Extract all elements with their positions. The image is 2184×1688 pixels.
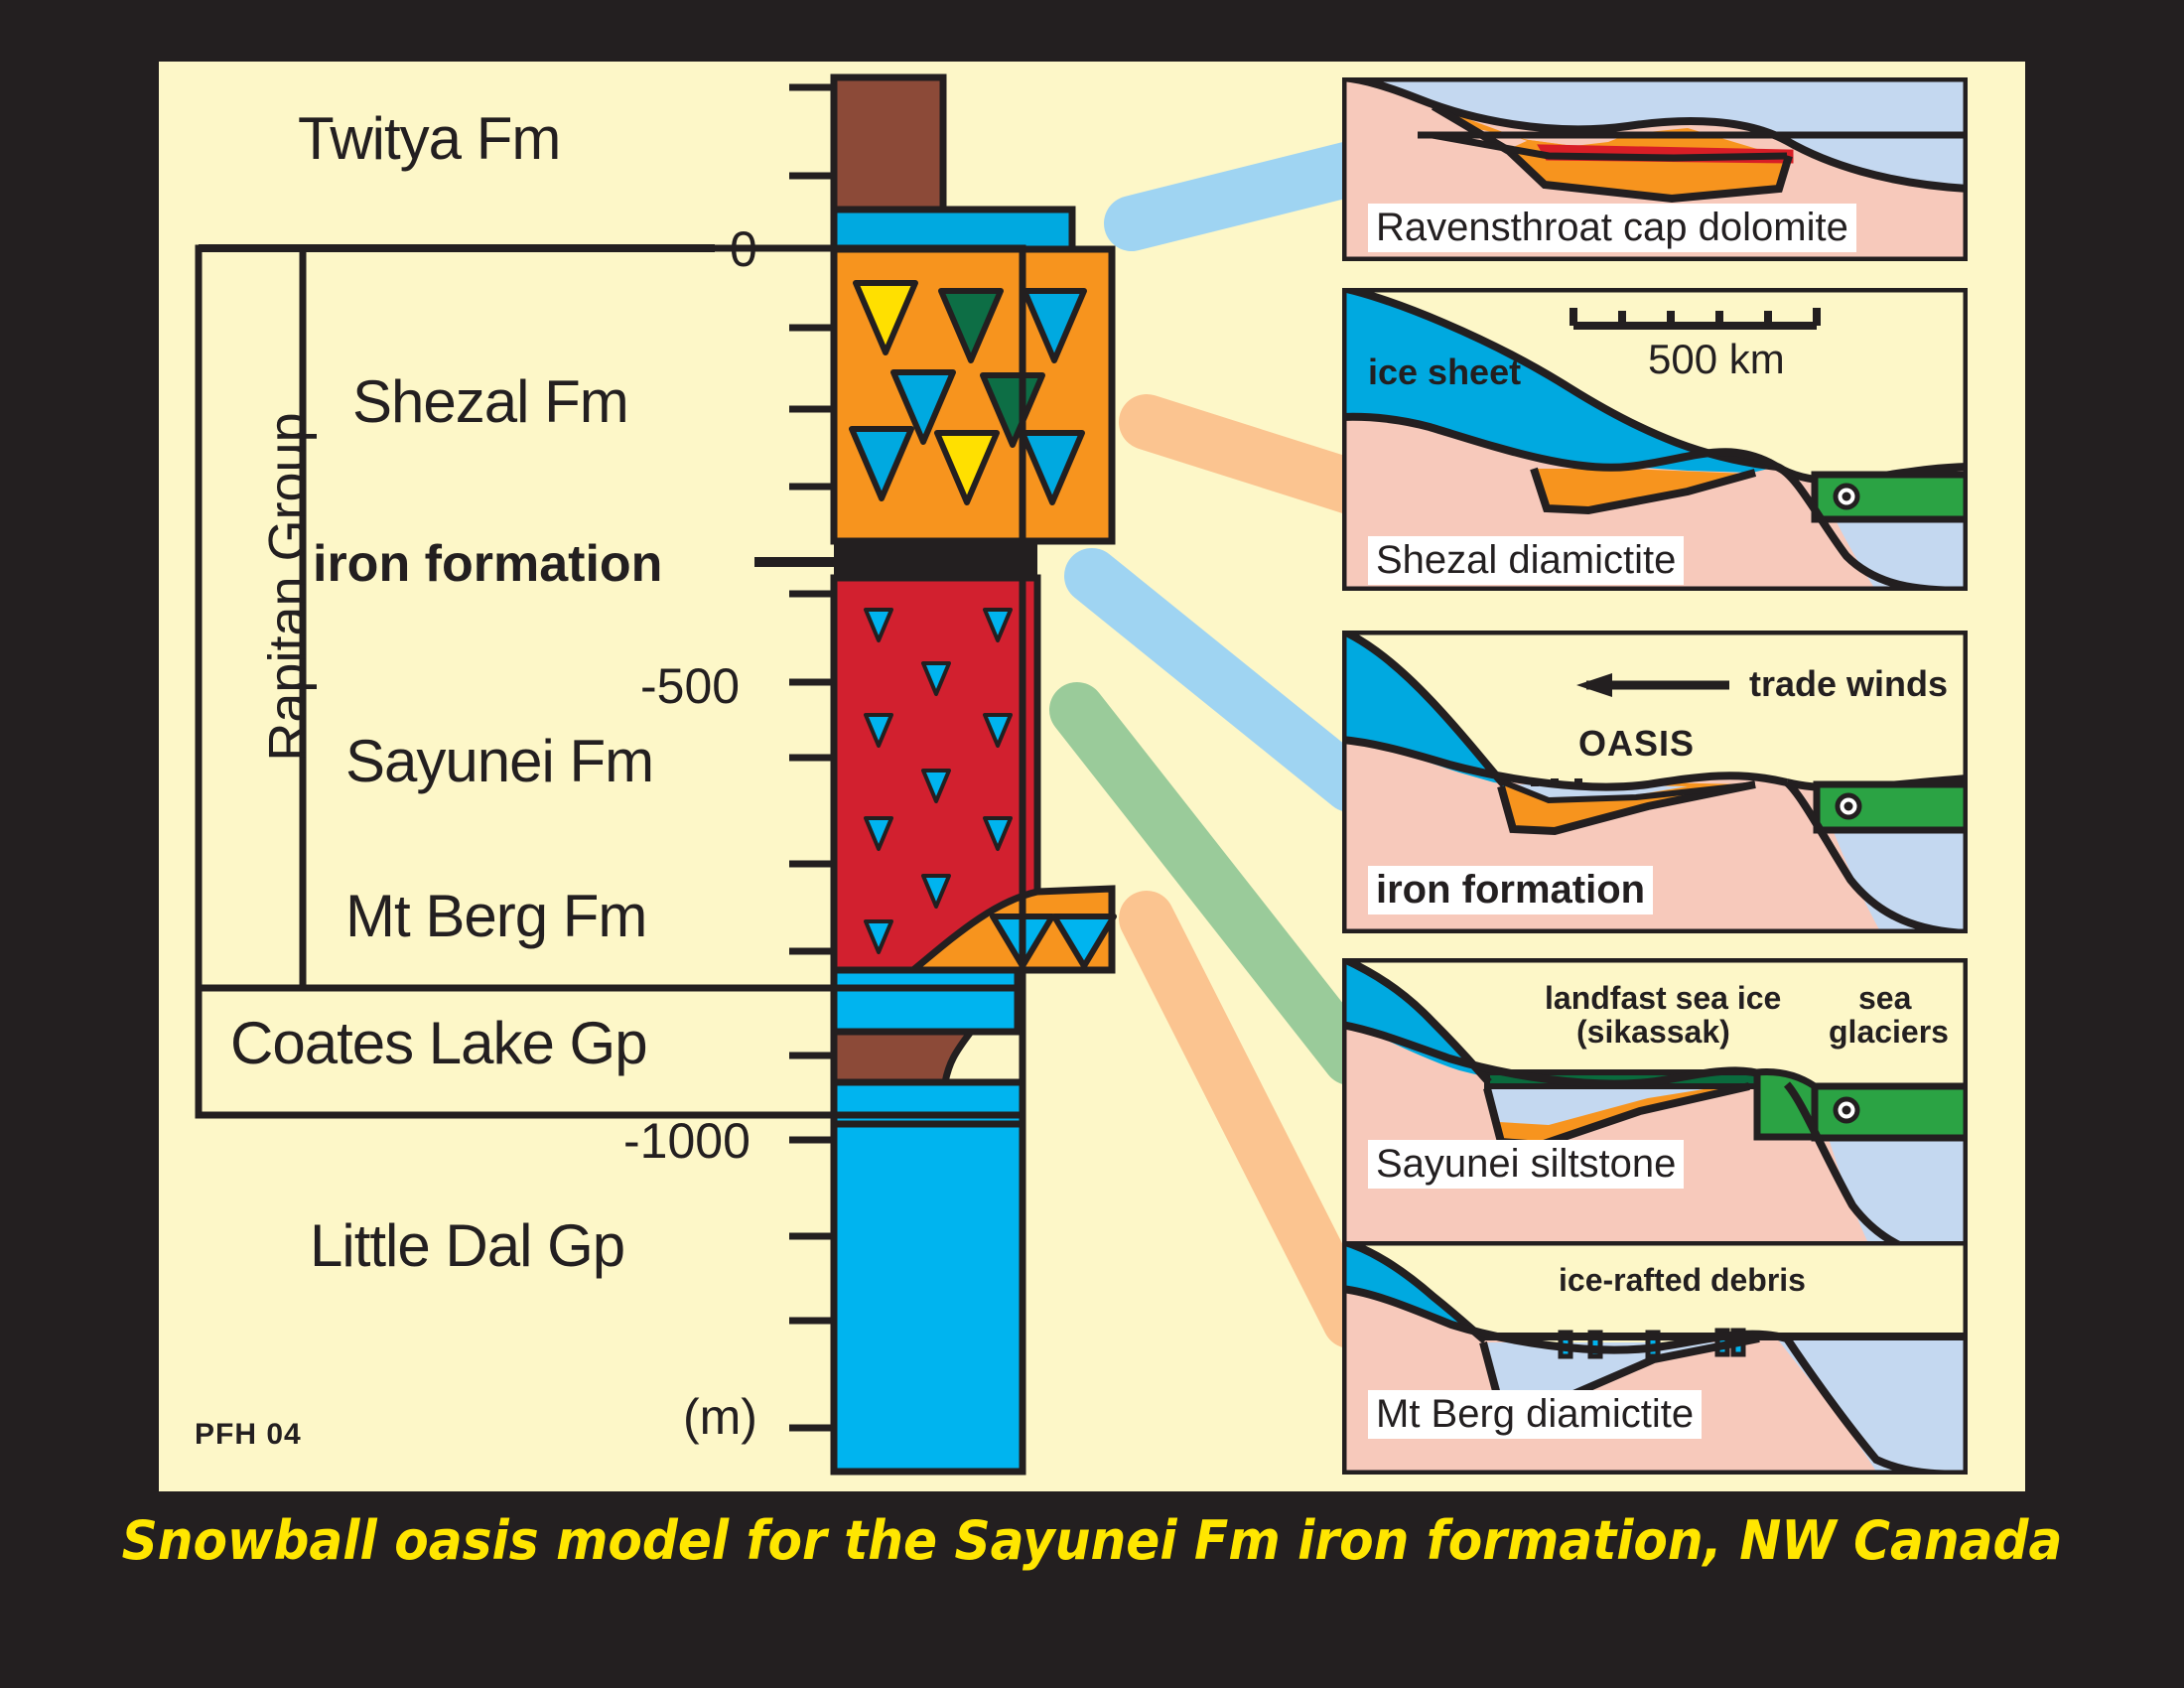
connector-ravensthroat	[1132, 169, 1350, 223]
unit-little-dal[interactable]	[834, 1124, 1023, 1472]
label-shezal-fm: Shezal Fm	[352, 367, 628, 436]
label-twitya-fm: Twitya Fm	[298, 104, 560, 173]
stratigraphic-column	[834, 77, 1114, 1472]
section-label-mt-berg: Mt Berg diamictite	[1368, 1390, 1702, 1439]
section-label-ravensthroat: Ravensthroat cap dolomite	[1368, 204, 1856, 252]
annotation-glaciers: glaciers	[1829, 1015, 1949, 1050]
annotation-sikassak: (sikassak)	[1576, 1015, 1730, 1050]
annotation-ice-rafted-debris: ice-rafted debris	[1559, 1263, 1806, 1298]
axis-unit-label: (m)	[683, 1388, 757, 1446]
unit-coates-brown[interactable]	[834, 1032, 971, 1082]
annotation-landfast-sea-ice: landfast sea ice	[1545, 981, 1781, 1016]
section-label-iron-formation: iron formation	[1368, 866, 1653, 914]
connector-group	[1077, 169, 1350, 1321]
annotation-sea: sea	[1858, 981, 1911, 1016]
section-label-sayunei: Sayunei siltstone	[1368, 1140, 1684, 1189]
label-rapitan-group: Rapitan Group	[257, 289, 319, 885]
annotation-trade-winds: trade winds	[1749, 665, 1948, 704]
section-label-shezal: Shezal diamictite	[1368, 536, 1684, 585]
label-coates-lake-gp: Coates Lake Gp	[230, 1009, 647, 1077]
unit-twitya[interactable]	[834, 77, 943, 210]
label-iron-formation: iron formation	[313, 534, 662, 594]
label-little-dal-gp: Little Dal Gp	[310, 1211, 624, 1280]
axis-label-1000: -1000	[623, 1112, 751, 1170]
annotation-oasis: OASIS	[1578, 725, 1695, 764]
annotation-ice-sheet: ice sheet	[1368, 353, 1521, 392]
figure-caption: Snowball oasis model for the Sayunei Fm …	[76, 1509, 2108, 1572]
label-sayunei-fm: Sayunei Fm	[345, 727, 653, 795]
figure-svg	[0, 0, 2184, 1688]
figure-credit: PFH 04	[195, 1418, 302, 1452]
connector-shezal	[1147, 422, 1350, 487]
label-mt-berg-fm: Mt Berg Fm	[345, 882, 646, 950]
unit-ravensthroat[interactable]	[834, 210, 1072, 249]
unit-coates-blue-upper[interactable]	[834, 970, 1018, 1032]
unit-iron-formation[interactable]	[834, 541, 1037, 578]
annotation-scale-500km: 500 km	[1648, 336, 1785, 383]
axis-label-0: 0	[730, 220, 757, 278]
axis-label-500: -500	[640, 657, 740, 715]
